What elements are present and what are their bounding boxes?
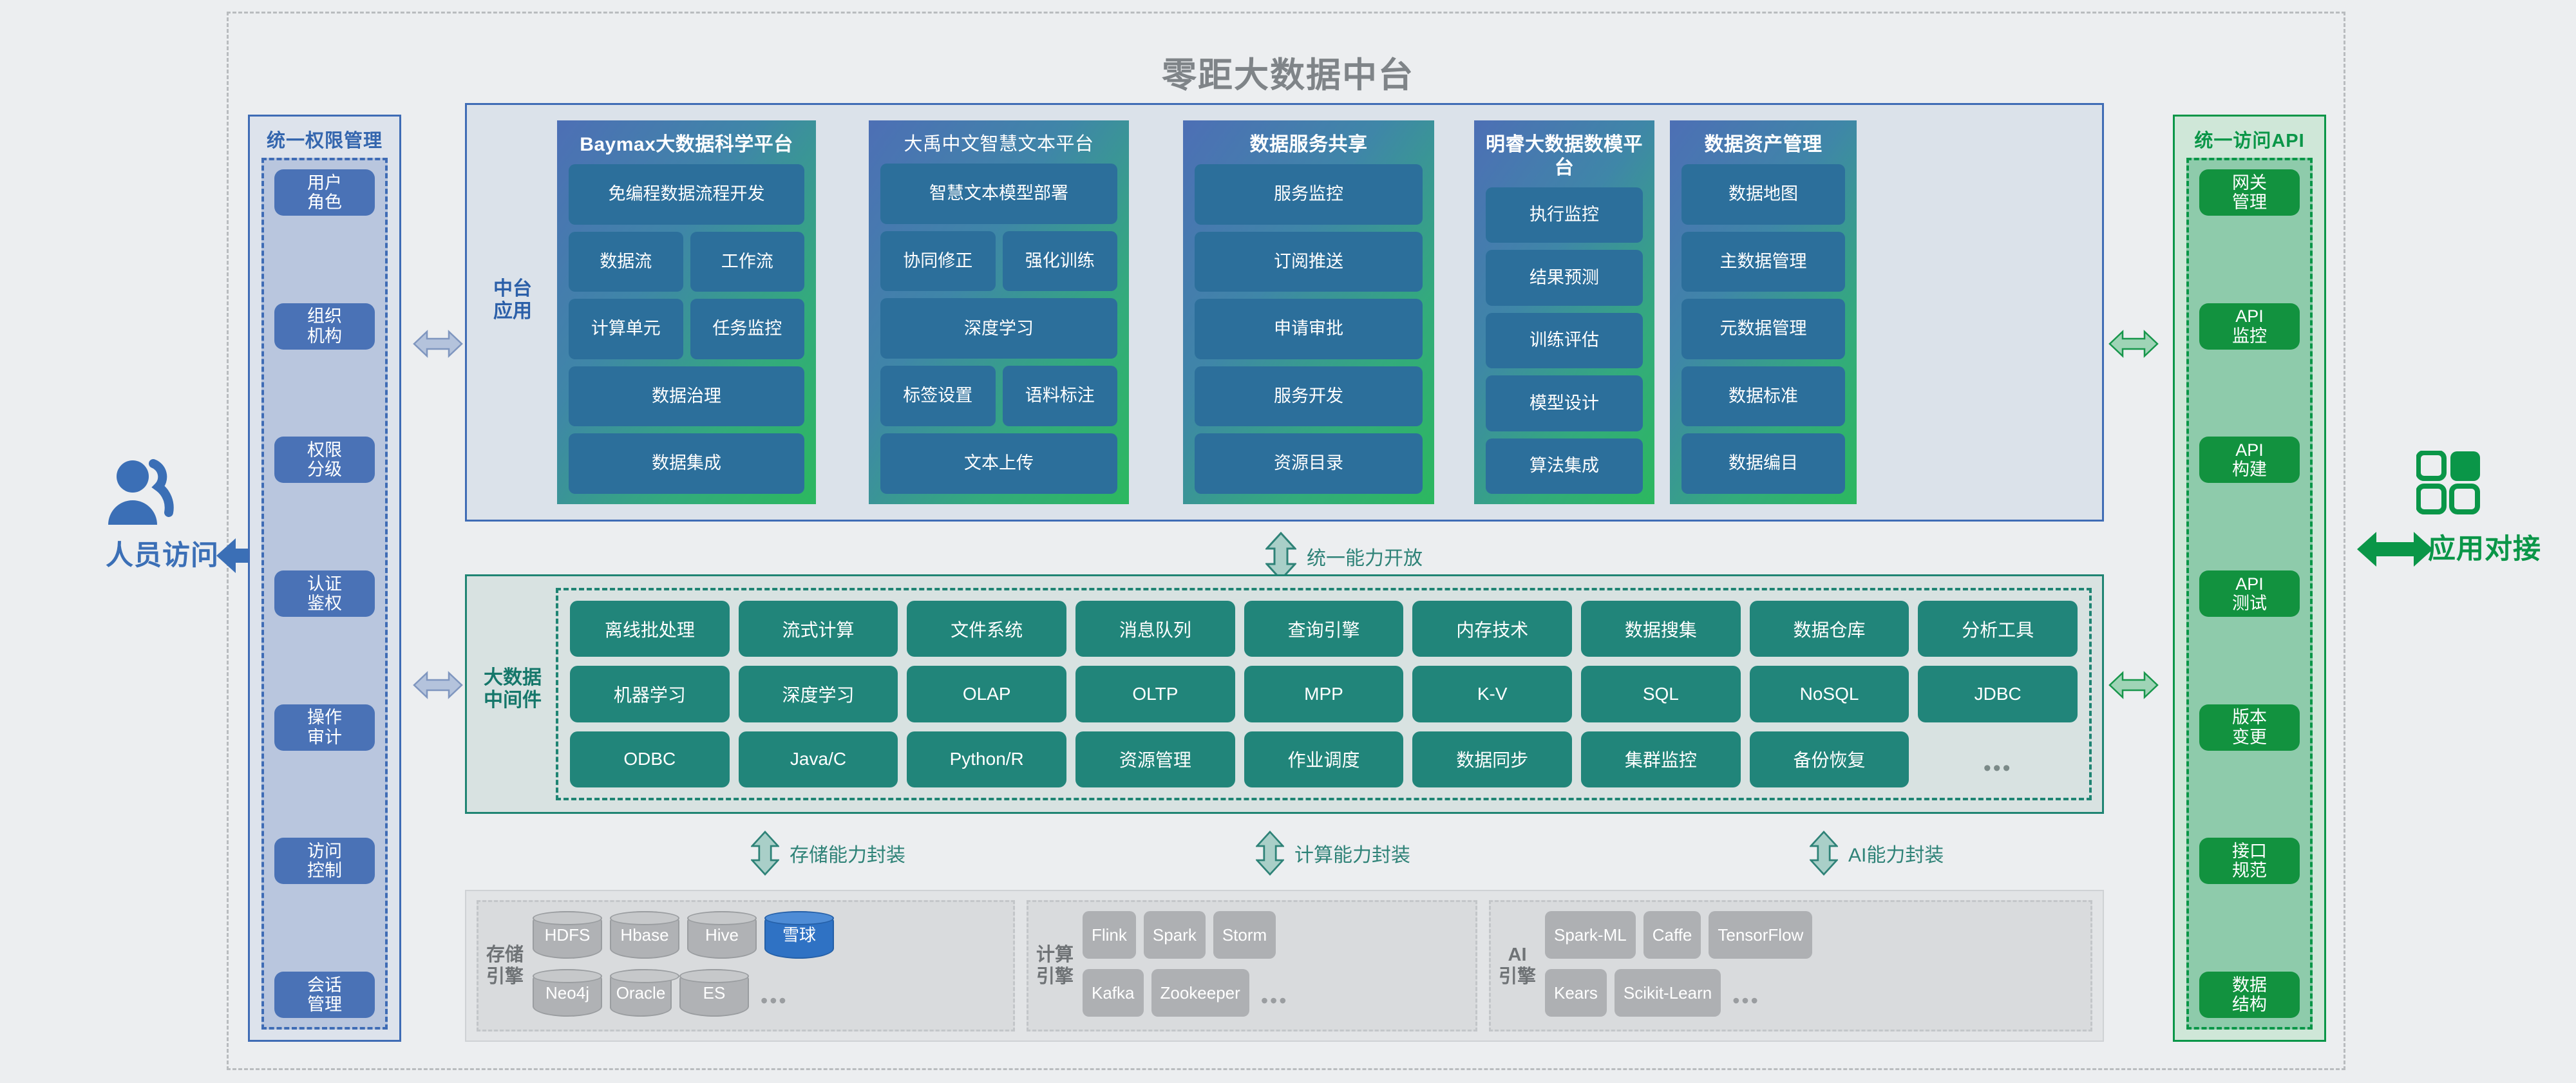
app-card-0[interactable]: Baymax大数据科学平台免编程数据流程开发数据流工作流计算单元任务监控数据治理… bbox=[557, 120, 816, 504]
app-card-row: 深度学习 bbox=[880, 298, 1117, 359]
arrow-left-to-app-layer bbox=[413, 328, 463, 363]
connector-capability-open: 统一能力开放 bbox=[1265, 532, 1423, 581]
engine-row: Neo4jOracleES••• bbox=[533, 965, 1005, 1021]
app-card-title: 数据资产管理 bbox=[1681, 133, 1845, 156]
middleware-more-ellipsis: ••• bbox=[1918, 731, 2078, 787]
app-card-row: 智慧文本模型部署 bbox=[880, 164, 1117, 224]
engine-row: KafkaZookeeper••• bbox=[1083, 965, 1468, 1021]
engine-more-ellipsis: ••• bbox=[757, 965, 792, 1021]
arrow-left-to-middleware bbox=[413, 670, 463, 704]
middleware-chip[interactable]: 机器学习 bbox=[570, 666, 730, 722]
storage-engine-cylinder[interactable]: Neo4j bbox=[533, 969, 602, 1017]
middleware-chip[interactable]: 流式计算 bbox=[739, 601, 898, 657]
engine-row: Spark-MLCaffeTensorFlow bbox=[1545, 911, 2083, 959]
diagram-canvas: 零距大数据中台 人员访问 bbox=[0, 0, 2576, 1083]
engine-item[interactable]: Storm bbox=[1213, 911, 1276, 959]
app-card-1[interactable]: 大禹中文智慧文本平台智慧文本模型部署协同修正强化训练深度学习标签设置语料标注文本… bbox=[869, 120, 1129, 504]
middleware-chip[interactable]: MPP bbox=[1244, 666, 1404, 722]
middleware-chip[interactable]: 集群监控 bbox=[1581, 731, 1741, 787]
middleware-chip[interactable]: 查询引擎 bbox=[1244, 601, 1404, 657]
connector-capability-open-label: 统一能力开放 bbox=[1307, 542, 1423, 570]
app-feature-chip[interactable]: 数据编目 bbox=[1681, 433, 1845, 494]
engine-group-0: 存储引擎HDFSHbaseHive雪球Neo4jOracleES••• bbox=[477, 900, 1015, 1031]
panel-unified-api: 统一访问API 网关管理API监控API构建API测试版本变更接口规范数据结构 bbox=[2173, 115, 2326, 1042]
engine-row: HDFSHbaseHive雪球 bbox=[533, 911, 1005, 959]
app-feature-chip[interactable]: 服务开发 bbox=[1195, 366, 1423, 427]
permission-item-3[interactable]: 认证鉴权 bbox=[274, 570, 375, 617]
app-card-row: 主数据管理 bbox=[1681, 232, 1845, 292]
app-feature-chip[interactable]: 订阅推送 bbox=[1195, 232, 1423, 292]
permission-item-1[interactable]: 组织机构 bbox=[274, 303, 375, 350]
panel-right-items: 网关管理API监控API构建API测试版本变更接口规范数据结构 bbox=[2186, 158, 2313, 1030]
app-card-row: 数据地图 bbox=[1681, 164, 1845, 225]
engine-more-ellipsis: ••• bbox=[1257, 965, 1293, 1021]
storage-engine-cylinder[interactable]: Oracle bbox=[610, 969, 672, 1017]
app-card-row: 订阅推送 bbox=[1195, 232, 1423, 292]
app-feature-chip[interactable]: 数据地图 bbox=[1681, 164, 1845, 225]
engine-item[interactable]: Caffe bbox=[1643, 911, 1701, 959]
app-card-row: 算法集成 bbox=[1486, 438, 1643, 494]
app-feature-chip[interactable]: 执行监控 bbox=[1486, 187, 1643, 243]
app-feature-chip[interactable]: 结果预测 bbox=[1486, 250, 1643, 305]
arrow-middleware-to-right bbox=[2108, 670, 2159, 704]
panel-right-title: 统一访问API bbox=[2175, 126, 2324, 153]
middleware-chip[interactable]: 深度学习 bbox=[739, 666, 898, 722]
middleware-chip[interactable]: OLTP bbox=[1075, 666, 1235, 722]
engine-item[interactable]: Flink bbox=[1083, 911, 1136, 959]
api-item-6[interactable]: 数据结构 bbox=[2199, 972, 2300, 1018]
middleware-chip[interactable]: K-V bbox=[1412, 666, 1572, 722]
app-card-rows: 执行监控结果预测训练评估模型设计算法集成 bbox=[1486, 187, 1643, 494]
app-card-title: 大禹中文智慧文本平台 bbox=[880, 133, 1117, 156]
arrow-app-layer-to-right bbox=[2108, 328, 2159, 363]
middleware-chip[interactable]: 分析工具 bbox=[1918, 601, 2078, 657]
engine-group-label: AI引擎 bbox=[1499, 944, 1536, 988]
app-card-row: 元数据管理 bbox=[1681, 299, 1845, 359]
users-icon bbox=[103, 457, 187, 531]
middleware-chip[interactable]: ODBC bbox=[570, 731, 730, 787]
engine-group-2: AI引擎Spark-MLCaffeTensorFlowKearsScikit-L… bbox=[1489, 900, 2092, 1031]
middleware-chip[interactable]: 文件系统 bbox=[907, 601, 1066, 657]
app-feature-chip[interactable]: 算法集成 bbox=[1486, 438, 1643, 494]
app-card-row: 数据编目 bbox=[1681, 433, 1845, 494]
app-card-2[interactable]: 数据服务共享服务监控订阅推送申请审批服务开发资源目录 bbox=[1183, 120, 1434, 504]
panel-left-title: 统一权限管理 bbox=[250, 126, 399, 153]
app-feature-chip[interactable]: 模型设计 bbox=[1486, 375, 1643, 431]
app-card-list: Baymax大数据科学平台免编程数据流程开发数据流工作流计算单元任务监控数据治理… bbox=[557, 120, 2089, 504]
storage-engine-cylinder[interactable]: HDFS bbox=[533, 911, 602, 959]
engine-item[interactable]: Zookeeper bbox=[1151, 969, 1249, 1017]
app-layer-label: 中台应用 bbox=[477, 278, 548, 323]
middleware-chip[interactable]: 消息队列 bbox=[1075, 601, 1235, 657]
app-card-row: 模型设计 bbox=[1486, 375, 1643, 431]
engine-item[interactable]: Spark-ML bbox=[1545, 911, 1636, 959]
app-feature-chip[interactable]: 计算单元 bbox=[569, 299, 683, 359]
actor-right-label: 应用对接 bbox=[2428, 527, 2576, 567]
connector-compute-label: 计算能力封装 bbox=[1294, 839, 1410, 867]
engine-item[interactable]: Kears bbox=[1545, 969, 1607, 1017]
api-item-5[interactable]: 接口规范 bbox=[2199, 838, 2300, 884]
middleware-chip[interactable]: Java/C bbox=[739, 731, 898, 787]
connector-ai-label: AI能力封装 bbox=[1848, 839, 1944, 867]
middleware-chip[interactable]: 资源管理 bbox=[1075, 731, 1235, 787]
connector-ai-encapsulation: AI能力封装 bbox=[1810, 831, 1944, 876]
middleware-chip[interactable]: 数据搜集 bbox=[1581, 601, 1741, 657]
page-title: 零距大数据中台 bbox=[902, 46, 1674, 97]
middleware-row: 离线批处理流式计算文件系统消息队列查询引擎内存技术数据搜集数据仓库分析工具 bbox=[570, 601, 2078, 657]
app-feature-chip[interactable]: 深度学习 bbox=[880, 298, 1117, 359]
app-feature-chip[interactable]: 任务监控 bbox=[690, 299, 805, 359]
engine-item[interactable]: Kafka bbox=[1083, 969, 1144, 1017]
api-item-1[interactable]: API监控 bbox=[2199, 303, 2300, 350]
engine-group-label: 计算引擎 bbox=[1036, 944, 1074, 988]
app-feature-chip[interactable]: 标签设置 bbox=[880, 366, 996, 426]
middleware-chip[interactable]: SQL bbox=[1581, 666, 1741, 722]
permission-item-5[interactable]: 访问控制 bbox=[274, 838, 375, 884]
middleware-chip[interactable]: 作业调度 bbox=[1244, 731, 1404, 787]
app-card-row: 文本上传 bbox=[880, 433, 1117, 494]
app-card-title: 明睿大数据数模平台 bbox=[1486, 133, 1643, 180]
connector-storage-label: 存储能力封装 bbox=[790, 839, 905, 867]
app-feature-chip[interactable]: 数据流 bbox=[569, 232, 683, 292]
engine-item-rows: HDFSHbaseHive雪球Neo4jOracleES••• bbox=[533, 911, 1005, 1021]
panel-left-items: 用户角色组织机构权限分级认证鉴权操作审计访问控制会话管理 bbox=[261, 158, 388, 1030]
layer-bigdata-middleware: 大数据中间件 离线批处理流式计算文件系统消息队列查询引擎内存技术数据搜集数据仓库… bbox=[465, 574, 2104, 814]
app-card-row: 资源目录 bbox=[1195, 433, 1423, 494]
app-card-rows: 服务监控订阅推送申请审批服务开发资源目录 bbox=[1195, 164, 1423, 494]
storage-engine-cylinder[interactable]: 雪球 bbox=[764, 911, 834, 959]
app-feature-chip[interactable]: 训练评估 bbox=[1486, 313, 1643, 368]
app-card-row: 标签设置语料标注 bbox=[880, 366, 1117, 426]
app-card-row: 结果预测 bbox=[1486, 250, 1643, 305]
app-feature-chip[interactable]: 主数据管理 bbox=[1681, 232, 1845, 292]
right-access-arrow-icon bbox=[2357, 529, 2433, 572]
actor-left-label: 人员访问 bbox=[71, 533, 219, 573]
app-feature-chip[interactable]: 免编程数据流程开发 bbox=[569, 164, 804, 225]
double-arrow-vertical-icon bbox=[1256, 831, 1284, 876]
api-item-2[interactable]: API构建 bbox=[2199, 437, 2300, 483]
engine-group-label: 存储引擎 bbox=[486, 944, 524, 988]
permission-item-6[interactable]: 会话管理 bbox=[274, 972, 375, 1018]
app-feature-chip[interactable]: 协同修正 bbox=[880, 231, 996, 292]
engine-item[interactable]: Scikit-Learn bbox=[1615, 969, 1721, 1017]
app-feature-chip[interactable]: 智慧文本模型部署 bbox=[880, 164, 1117, 224]
double-arrow-vertical-icon bbox=[1810, 831, 1838, 876]
app-card-title: Baymax大数据科学平台 bbox=[569, 133, 804, 156]
engine-item-rows: FlinkSparkStormKafkaZookeeper••• bbox=[1083, 911, 1468, 1021]
api-item-4[interactable]: 版本变更 bbox=[2199, 704, 2300, 751]
middleware-chip[interactable]: Python/R bbox=[907, 731, 1066, 787]
app-card-row: 服务监控 bbox=[1195, 164, 1423, 225]
app-feature-chip[interactable]: 数据治理 bbox=[569, 366, 804, 427]
middleware-row: 机器学习深度学习OLAPOLTPMPPK-VSQLNoSQLJDBC bbox=[570, 666, 2078, 722]
app-card-row: 数据标准 bbox=[1681, 366, 1845, 427]
app-card-row: 数据集成 bbox=[569, 433, 804, 494]
engine-item-rows: Spark-MLCaffeTensorFlowKearsScikit-Learn… bbox=[1545, 911, 2083, 1021]
app-feature-chip[interactable]: 数据标准 bbox=[1681, 366, 1845, 427]
app-card-row: 计算单元任务监控 bbox=[569, 299, 804, 359]
actor-personnel-access: 人员访问 bbox=[77, 457, 245, 599]
app-feature-chip[interactable]: 申请审批 bbox=[1195, 299, 1423, 359]
middleware-layer-label: 大数据中间件 bbox=[475, 666, 551, 712]
app-card-row: 训练评估 bbox=[1486, 313, 1643, 368]
storage-engine-cylinder[interactable]: Hive bbox=[687, 911, 757, 959]
app-feature-chip[interactable]: 数据集成 bbox=[569, 433, 804, 494]
app-card-title: 数据服务共享 bbox=[1195, 133, 1423, 156]
app-card-row: 数据治理 bbox=[569, 366, 804, 427]
engine-more-ellipsis: ••• bbox=[1728, 965, 1764, 1021]
middleware-chip[interactable]: 数据仓库 bbox=[1750, 601, 1909, 657]
panel-unified-permission: 统一权限管理 用户角色组织机构权限分级认证鉴权操作审计访问控制会话管理 bbox=[248, 115, 401, 1042]
api-item-3[interactable]: API测试 bbox=[2199, 570, 2300, 617]
layer-engines: 存储引擎HDFSHbaseHive雪球Neo4jOracleES•••计算引擎F… bbox=[465, 890, 2104, 1042]
app-feature-chip[interactable]: 元数据管理 bbox=[1681, 299, 1845, 359]
app-card-rows: 免编程数据流程开发数据流工作流计算单元任务监控数据治理数据集成 bbox=[569, 164, 804, 494]
app-card-row: 免编程数据流程开发 bbox=[569, 164, 804, 225]
engine-item[interactable]: TensorFlow bbox=[1709, 911, 1812, 959]
engine-row: FlinkSparkStorm bbox=[1083, 911, 1468, 959]
layer-platform-applications: 中台应用 Baymax大数据科学平台免编程数据流程开发数据流工作流计算单元任务监… bbox=[465, 103, 2104, 522]
api-item-0[interactable]: 网关管理 bbox=[2199, 169, 2300, 216]
middleware-chip[interactable]: 数据同步 bbox=[1412, 731, 1572, 787]
app-feature-chip[interactable]: 文本上传 bbox=[880, 433, 1117, 494]
double-arrow-vertical-icon bbox=[1265, 532, 1296, 581]
double-arrow-vertical-icon bbox=[751, 831, 779, 876]
middleware-row: ODBCJava/CPython/R资源管理作业调度数据同步集群监控备份恢复••… bbox=[570, 731, 2078, 787]
app-feature-chip[interactable]: 强化训练 bbox=[1003, 231, 1118, 292]
app-card-rows: 数据地图主数据管理元数据管理数据标准数据编目 bbox=[1681, 164, 1845, 494]
middleware-chip[interactable]: JDBC bbox=[1918, 666, 2078, 722]
app-card-rows: 智慧文本模型部署协同修正强化训练深度学习标签设置语料标注文本上传 bbox=[880, 164, 1117, 494]
app-feature-chip[interactable]: 资源目录 bbox=[1195, 433, 1423, 494]
connector-storage-encapsulation: 存储能力封装 bbox=[751, 831, 905, 876]
app-feature-chip[interactable]: 服务监控 bbox=[1195, 164, 1423, 225]
storage-engine-cylinder[interactable]: Hbase bbox=[610, 911, 679, 959]
middleware-grid: 离线批处理流式计算文件系统消息队列查询引擎内存技术数据搜集数据仓库分析工具机器学… bbox=[556, 588, 2092, 800]
middleware-chip[interactable]: 备份恢复 bbox=[1750, 731, 1909, 787]
middleware-chip[interactable]: OLAP bbox=[907, 666, 1066, 722]
app-card-3[interactable]: 明睿大数据数模平台执行监控结果预测训练评估模型设计算法集成 bbox=[1474, 120, 1654, 504]
engine-group-1: 计算引擎FlinkSparkStormKafkaZookeeper••• bbox=[1027, 900, 1477, 1031]
permission-item-4[interactable]: 操作审计 bbox=[274, 704, 375, 751]
permission-item-0[interactable]: 用户角色 bbox=[274, 169, 375, 216]
connector-compute-encapsulation: 计算能力封装 bbox=[1256, 831, 1410, 876]
permission-item-2[interactable]: 权限分级 bbox=[274, 437, 375, 483]
app-feature-chip[interactable]: 语料标注 bbox=[1003, 366, 1118, 426]
app-feature-chip[interactable]: 工作流 bbox=[690, 232, 805, 292]
middleware-chip[interactable]: 离线批处理 bbox=[570, 601, 730, 657]
engine-row: KearsScikit-Learn••• bbox=[1545, 965, 2083, 1021]
middleware-chip[interactable]: NoSQL bbox=[1750, 666, 1909, 722]
app-card-row: 执行监控 bbox=[1486, 187, 1643, 243]
app-card-4[interactable]: 数据资产管理数据地图主数据管理元数据管理数据标准数据编目 bbox=[1670, 120, 1857, 504]
apps-grid-icon bbox=[2416, 451, 2481, 518]
middleware-chip[interactable]: 内存技术 bbox=[1412, 601, 1572, 657]
app-card-row: 服务开发 bbox=[1195, 366, 1423, 427]
engine-item[interactable]: Spark bbox=[1144, 911, 1206, 959]
app-card-row: 协同修正强化训练 bbox=[880, 231, 1117, 292]
storage-engine-cylinder[interactable]: ES bbox=[679, 969, 749, 1017]
app-card-row: 数据流工作流 bbox=[569, 232, 804, 292]
actor-application-docking: 应用对接 bbox=[2357, 451, 2563, 599]
app-card-row: 申请审批 bbox=[1195, 299, 1423, 359]
